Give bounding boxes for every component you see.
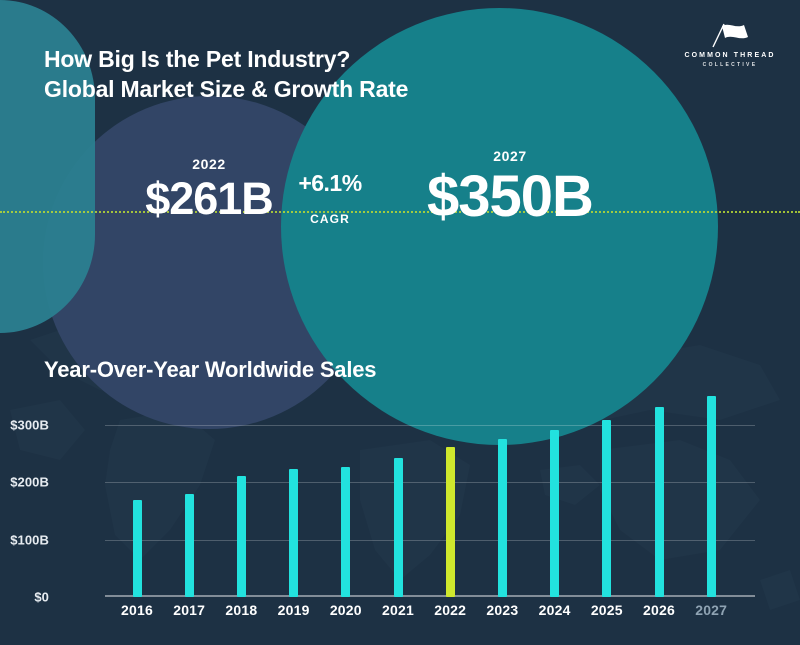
chart-x-tick-label: 2023 [472, 602, 532, 618]
chart-bar[interactable] [446, 447, 455, 597]
chart-bar[interactable] [237, 476, 246, 597]
stat-2027: 2027 $350B [380, 148, 640, 226]
chart-y-tick-label: $0 [0, 590, 49, 605]
cagr-label: CAGR [284, 212, 376, 226]
logo-name: COMMON THREAD [682, 51, 778, 61]
chart-title: Year-Over-Year Worldwide Sales [44, 357, 376, 383]
stat-cagr: +6.1% CAGR [284, 170, 376, 226]
chart-bar[interactable] [550, 430, 559, 597]
chart-bar[interactable] [602, 420, 611, 597]
headline-line-2: Global Market Size & Growth Rate [44, 74, 564, 104]
chart-bar[interactable] [394, 458, 403, 597]
chart-bar[interactable] [498, 439, 507, 597]
logo-subtitle: COLLECTIVE [682, 61, 778, 70]
infographic-canvas: How Big Is the Pet Industry? Global Mark… [0, 0, 800, 645]
bar-chart: $0$100B$200B$300B20162017201820192020202… [0, 390, 800, 645]
brand-logo[interactable]: COMMON THREAD COLLECTIVE [682, 22, 778, 70]
page-title: How Big Is the Pet Industry? Global Mark… [44, 44, 564, 104]
chart-x-tick-label: 2025 [577, 602, 637, 618]
chart-x-tick-label: 2021 [368, 602, 428, 618]
chart-x-tick-label: 2019 [264, 602, 324, 618]
chart-bar[interactable] [341, 467, 350, 597]
chart-x-tick-label: 2022 [420, 602, 480, 618]
chart-bar[interactable] [707, 396, 716, 597]
flag-icon [707, 22, 753, 48]
stat-2027-year: 2027 [380, 148, 640, 164]
stat-2027-value: $350B [380, 168, 640, 226]
chart-bar[interactable] [289, 469, 298, 597]
chart-bar[interactable] [655, 407, 664, 597]
chart-x-tick-label: 2024 [525, 602, 585, 618]
chart-x-tick-label: 2026 [629, 602, 689, 618]
chart-plot-area: $0$100B$200B$300B20162017201820192020202… [105, 390, 755, 597]
chart-x-tick-label: 2018 [211, 602, 271, 618]
chart-x-tick-label: 2017 [159, 602, 219, 618]
chart-y-tick-label: $200B [0, 475, 49, 490]
chart-x-tick-label: 2027 [681, 602, 741, 618]
chart-bar[interactable] [133, 500, 142, 597]
chart-y-tick-label: $300B [0, 418, 49, 433]
cagr-value: +6.1% [284, 170, 376, 196]
chart-x-tick-label: 2020 [316, 602, 376, 618]
headline-line-1: How Big Is the Pet Industry? [44, 44, 564, 74]
chart-x-tick-label: 2016 [107, 602, 167, 618]
chart-y-tick-label: $100B [0, 532, 49, 547]
chart-bar[interactable] [185, 494, 194, 597]
